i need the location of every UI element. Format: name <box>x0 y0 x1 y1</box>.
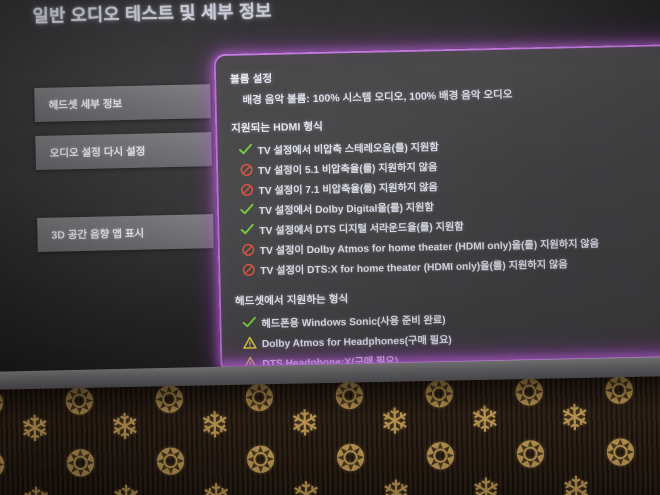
tv-screen-area: 일반 오디오 테스트 및 세부 정보 헤드셋 세부 정보 오디오 설정 다시 설… <box>0 0 660 406</box>
check-icon <box>239 314 259 330</box>
sidebar-item-label: 3D 공간 음향 앱 표시 <box>51 225 144 242</box>
photograph-of-tv-screen: 일반 오디오 테스트 및 세부 정보 헤드셋 세부 정보 오디오 설정 다시 설… <box>0 0 660 495</box>
sidebar-item-label: 헤드셋 세부 정보 <box>48 96 122 113</box>
list-item-label: TV 설정에서 Dolby Digital을(를) 지원함 <box>259 198 434 217</box>
no-entry-icon <box>238 261 258 277</box>
sidebar-item-headset-details[interactable]: 헤드셋 세부 정보 <box>34 84 211 122</box>
list-item-label: Dolby Atmos for Headphones(구매 필요) <box>262 330 452 349</box>
sidebar-item-reset-audio-settings[interactable]: 오디오 설정 다시 설정 <box>35 132 212 170</box>
warning-triangle-icon <box>240 334 260 350</box>
list-item-label: 헤드폰용 Windows Sonic(사용 준비 완료) <box>261 311 445 330</box>
no-entry-icon <box>236 161 256 177</box>
list-item-label: TV 설정에서 비압축 스테레오음(를) 지원함 <box>257 138 438 157</box>
audio-details-panel: 볼륨 설정 배경 음악 볼륨: 100% 시스템 오디오, 100% 배경 음악… <box>214 43 660 372</box>
sidebar-spacer <box>36 166 213 218</box>
list-item-label: TV 설정이 5.1 비압축율(를) 지원하지 않음 <box>258 158 438 177</box>
list-item-label: TV 설정이 DTS:X for home theater (HDMI only… <box>260 255 568 277</box>
section-heading-volume-settings: 볼륨 설정 <box>230 61 660 87</box>
list-item-label: TV 설정이 7.1 비압축율(를) 지원하지 않음 <box>258 178 438 197</box>
check-icon <box>237 201 257 217</box>
check-icon <box>237 221 257 237</box>
no-entry-icon <box>236 181 256 197</box>
sidebar-item-show-spatial-audio-apps[interactable]: 3D 공간 음향 앱 표시 <box>37 214 214 252</box>
sidebar-item-label: 오디오 설정 다시 설정 <box>49 143 145 160</box>
no-entry-icon <box>238 241 258 257</box>
damask-wallpaper: ❂ ❂ ❂ ❂ ❂ ❂ ❂ ❂ ❄ ❄ ❄ ❄ ❄ ❄ ❄ ❄ ❂ ❂ ❂ ❂ … <box>0 376 660 495</box>
volume-settings-value: 배경 음악 볼륨: 100% 시스템 오디오, 100% 배경 음악 오디오 <box>242 82 660 108</box>
sidebar: 헤드셋 세부 정보 오디오 설정 다시 설정 3D 공간 음향 앱 표시 <box>34 84 214 252</box>
panel-content: 볼륨 설정 배경 음악 볼륨: 100% 시스템 오디오, 100% 배경 음악… <box>216 45 660 370</box>
list-item-label: TV 설정에서 DTS 디지털 서라운드을(를) 지원함 <box>259 217 464 236</box>
hdmi-format-list: TV 설정에서 비압축 스테레오음(를) 지원함 TV 설정이 5.1 비압축율… <box>231 129 660 280</box>
panel-surface: 볼륨 설정 배경 음악 볼륨: 100% 시스템 오디오, 100% 배경 음악… <box>214 43 660 372</box>
check-icon <box>235 141 255 157</box>
